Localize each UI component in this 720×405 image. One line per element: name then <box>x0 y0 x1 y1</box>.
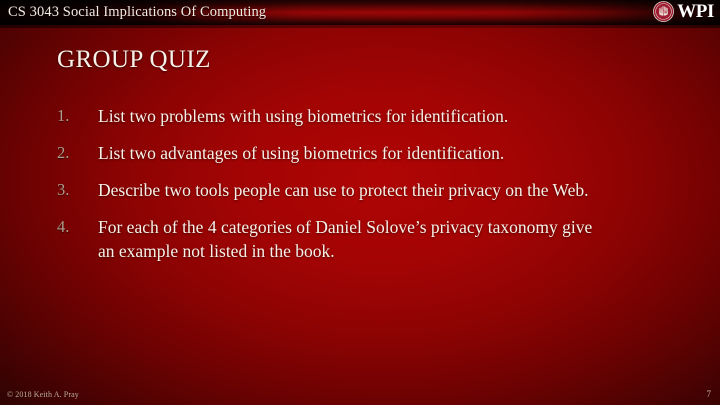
wpi-wordmark: WPI <box>677 1 714 22</box>
list-item: 2. List two advantages of using biometri… <box>57 141 657 165</box>
list-item-text: List two problems with using biometrics … <box>98 104 657 128</box>
list-item-number: 1. <box>57 104 98 128</box>
wpi-logo: WPI <box>653 1 714 22</box>
quiz-question-list: 1. List two problems with using biometri… <box>57 104 657 263</box>
list-item-text: Describe two tools people can use to pro… <box>98 178 657 202</box>
footer-copyright: © 2018 Keith A. Pray <box>7 389 79 400</box>
footer-page-number: 7 <box>707 389 712 400</box>
list-item: 1. List two problems with using biometri… <box>57 104 657 128</box>
course-title: CS 3043 Social Implications Of Computing <box>8 1 266 23</box>
wpi-seal-icon <box>653 1 674 22</box>
list-item-number: 2. <box>57 141 98 165</box>
presentation-slide: CS 3043 Social Implications Of Computing… <box>0 0 720 405</box>
list-item: 3. Describe two tools people can use to … <box>57 178 657 202</box>
list-item-number: 4. <box>57 215 98 239</box>
list-item: 4. For each of the 4 categories of Danie… <box>57 215 657 263</box>
list-item-number: 3. <box>57 178 98 202</box>
header-underline <box>0 25 720 28</box>
list-item-text: For each of the 4 categories of Daniel S… <box>98 215 598 263</box>
slide-title: GROUP QUIZ <box>57 45 211 75</box>
list-item-text: List two advantages of using biometrics … <box>98 141 657 165</box>
